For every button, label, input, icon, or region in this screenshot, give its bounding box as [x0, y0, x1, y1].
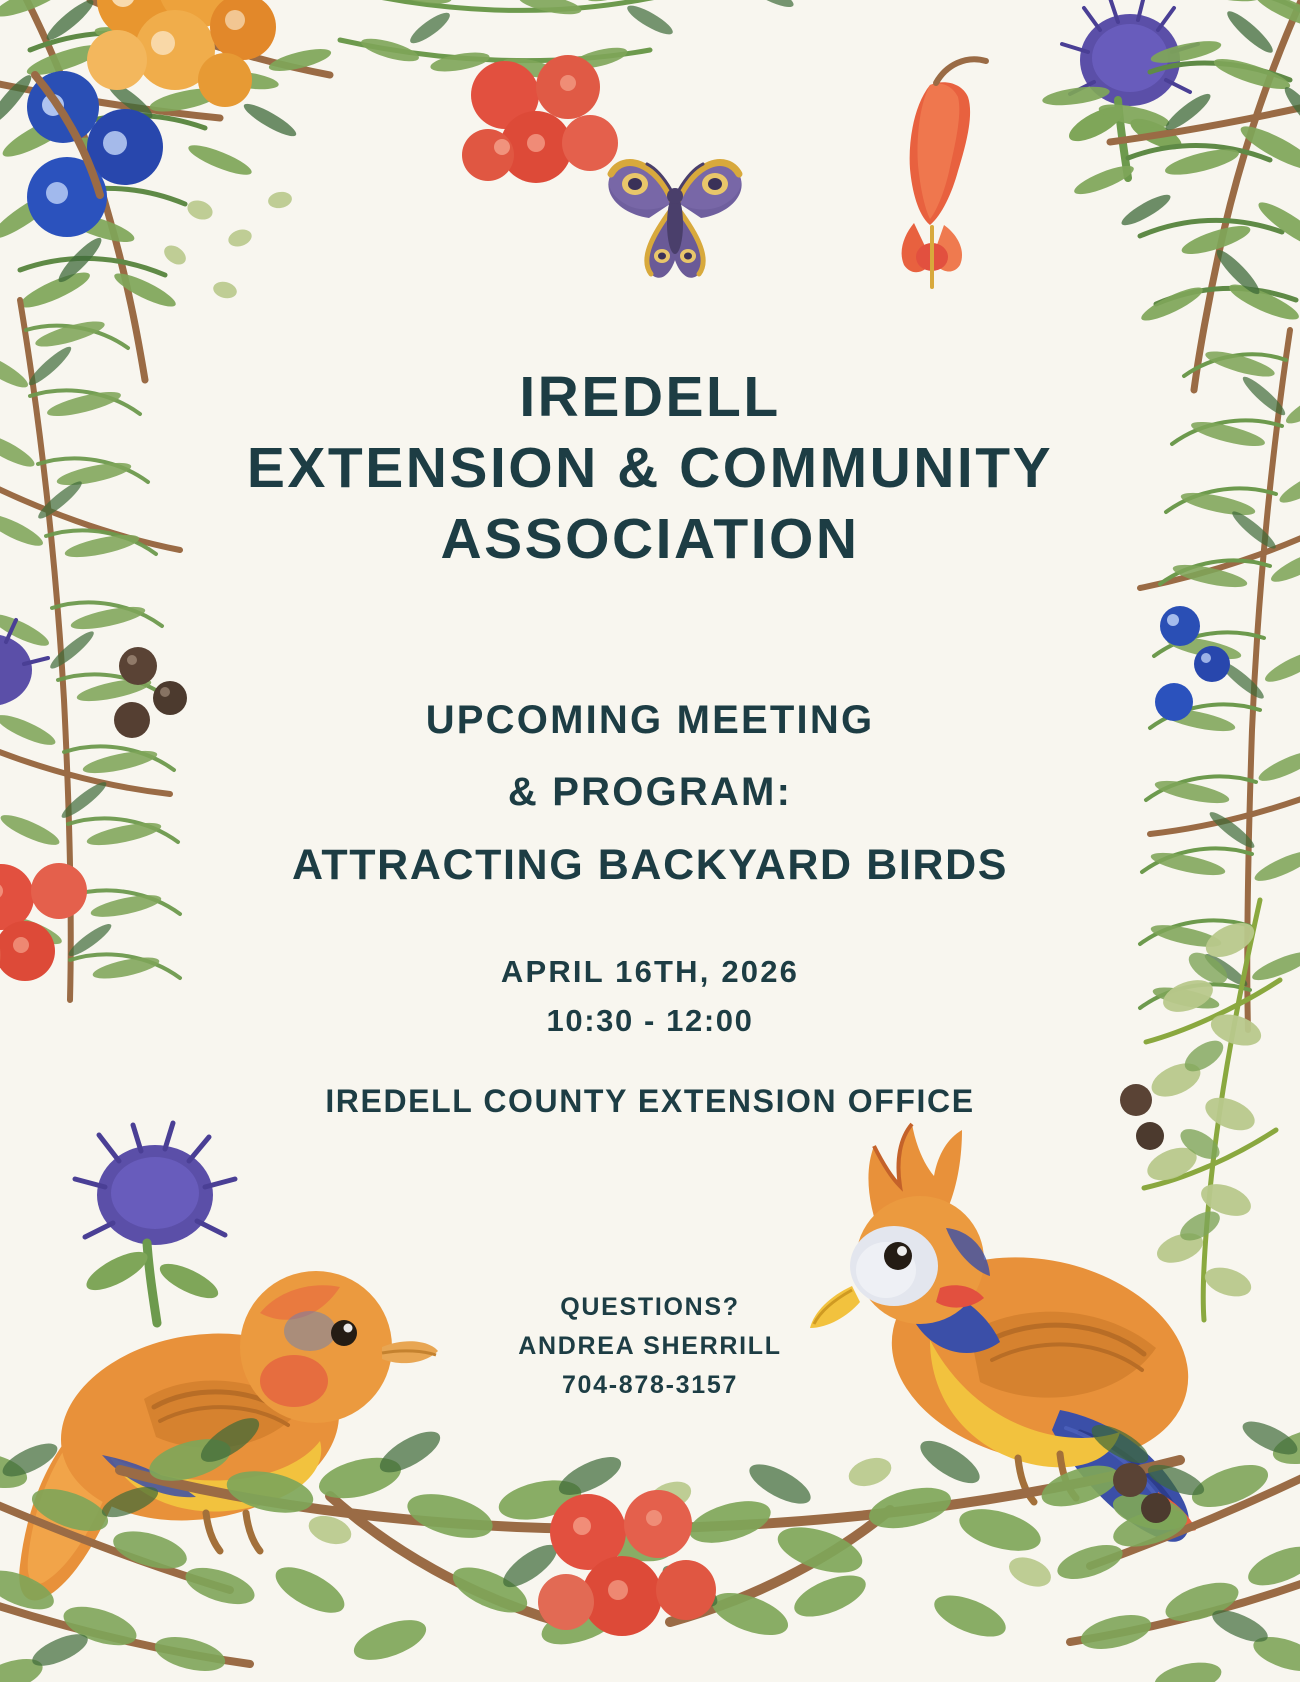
page-title: IREDELL EXTENSION & COMMUNITY ASSOCIATIO… — [200, 362, 1100, 575]
red-berry-cluster-icon — [0, 855, 125, 1015]
red-berry-cluster-icon — [450, 55, 640, 225]
org-line-1: IREDELL — [200, 362, 1100, 433]
foliage-icon — [300, 0, 860, 180]
event-date: APRIL 16TH, 2026 — [200, 948, 1100, 996]
contact-block: QUESTIONS? ANDREA SHERRILL 704-878-3157 — [340, 1288, 960, 1405]
event-venue: IREDELL COUNTY EXTENSION OFFICE — [150, 1078, 1150, 1124]
program-title: ATTRACTING BACKYARD BIRDS — [160, 828, 1140, 902]
org-line-3: ASSOCIATION — [200, 504, 1100, 575]
contact-name: ANDREA SHERRILL — [340, 1327, 960, 1366]
thistle-icon — [1040, 0, 1220, 180]
foliage-icon — [130, 1400, 1180, 1682]
org-line-2: EXTENSION & COMMUNITY — [200, 433, 1100, 504]
program-heading: UPCOMING MEETING & PROGRAM: ATTRACTING B… — [160, 684, 1140, 902]
poster-canvas: IREDELL EXTENSION & COMMUNITY ASSOCIATIO… — [0, 0, 1300, 1682]
thistle-icon — [55, 1125, 255, 1325]
schedule-block: APRIL 16TH, 2026 10:30 - 12:00 — [200, 948, 1100, 1046]
orange-berry-cluster-icon — [75, 0, 315, 145]
event-time: 10:30 - 12:00 — [200, 996, 1100, 1046]
foliage-icon — [1060, 1420, 1300, 1682]
red-berry-cluster-icon — [530, 1480, 730, 1680]
moth-icon — [595, 140, 755, 290]
program-line-1: UPCOMING MEETING — [160, 684, 1140, 756]
blueberry-cluster-icon — [5, 55, 235, 285]
contact-prompt: QUESTIONS? — [340, 1288, 960, 1327]
program-line-2: & PROGRAM: — [160, 756, 1140, 828]
bird-icon — [10, 1195, 440, 1615]
contact-phone: 704-878-3157 — [340, 1366, 960, 1405]
foliage-icon — [1000, 0, 1300, 390]
foliage-icon — [0, 1440, 270, 1682]
foliage-icon — [0, 0, 450, 380]
trumpet-flower-icon — [870, 75, 1020, 295]
